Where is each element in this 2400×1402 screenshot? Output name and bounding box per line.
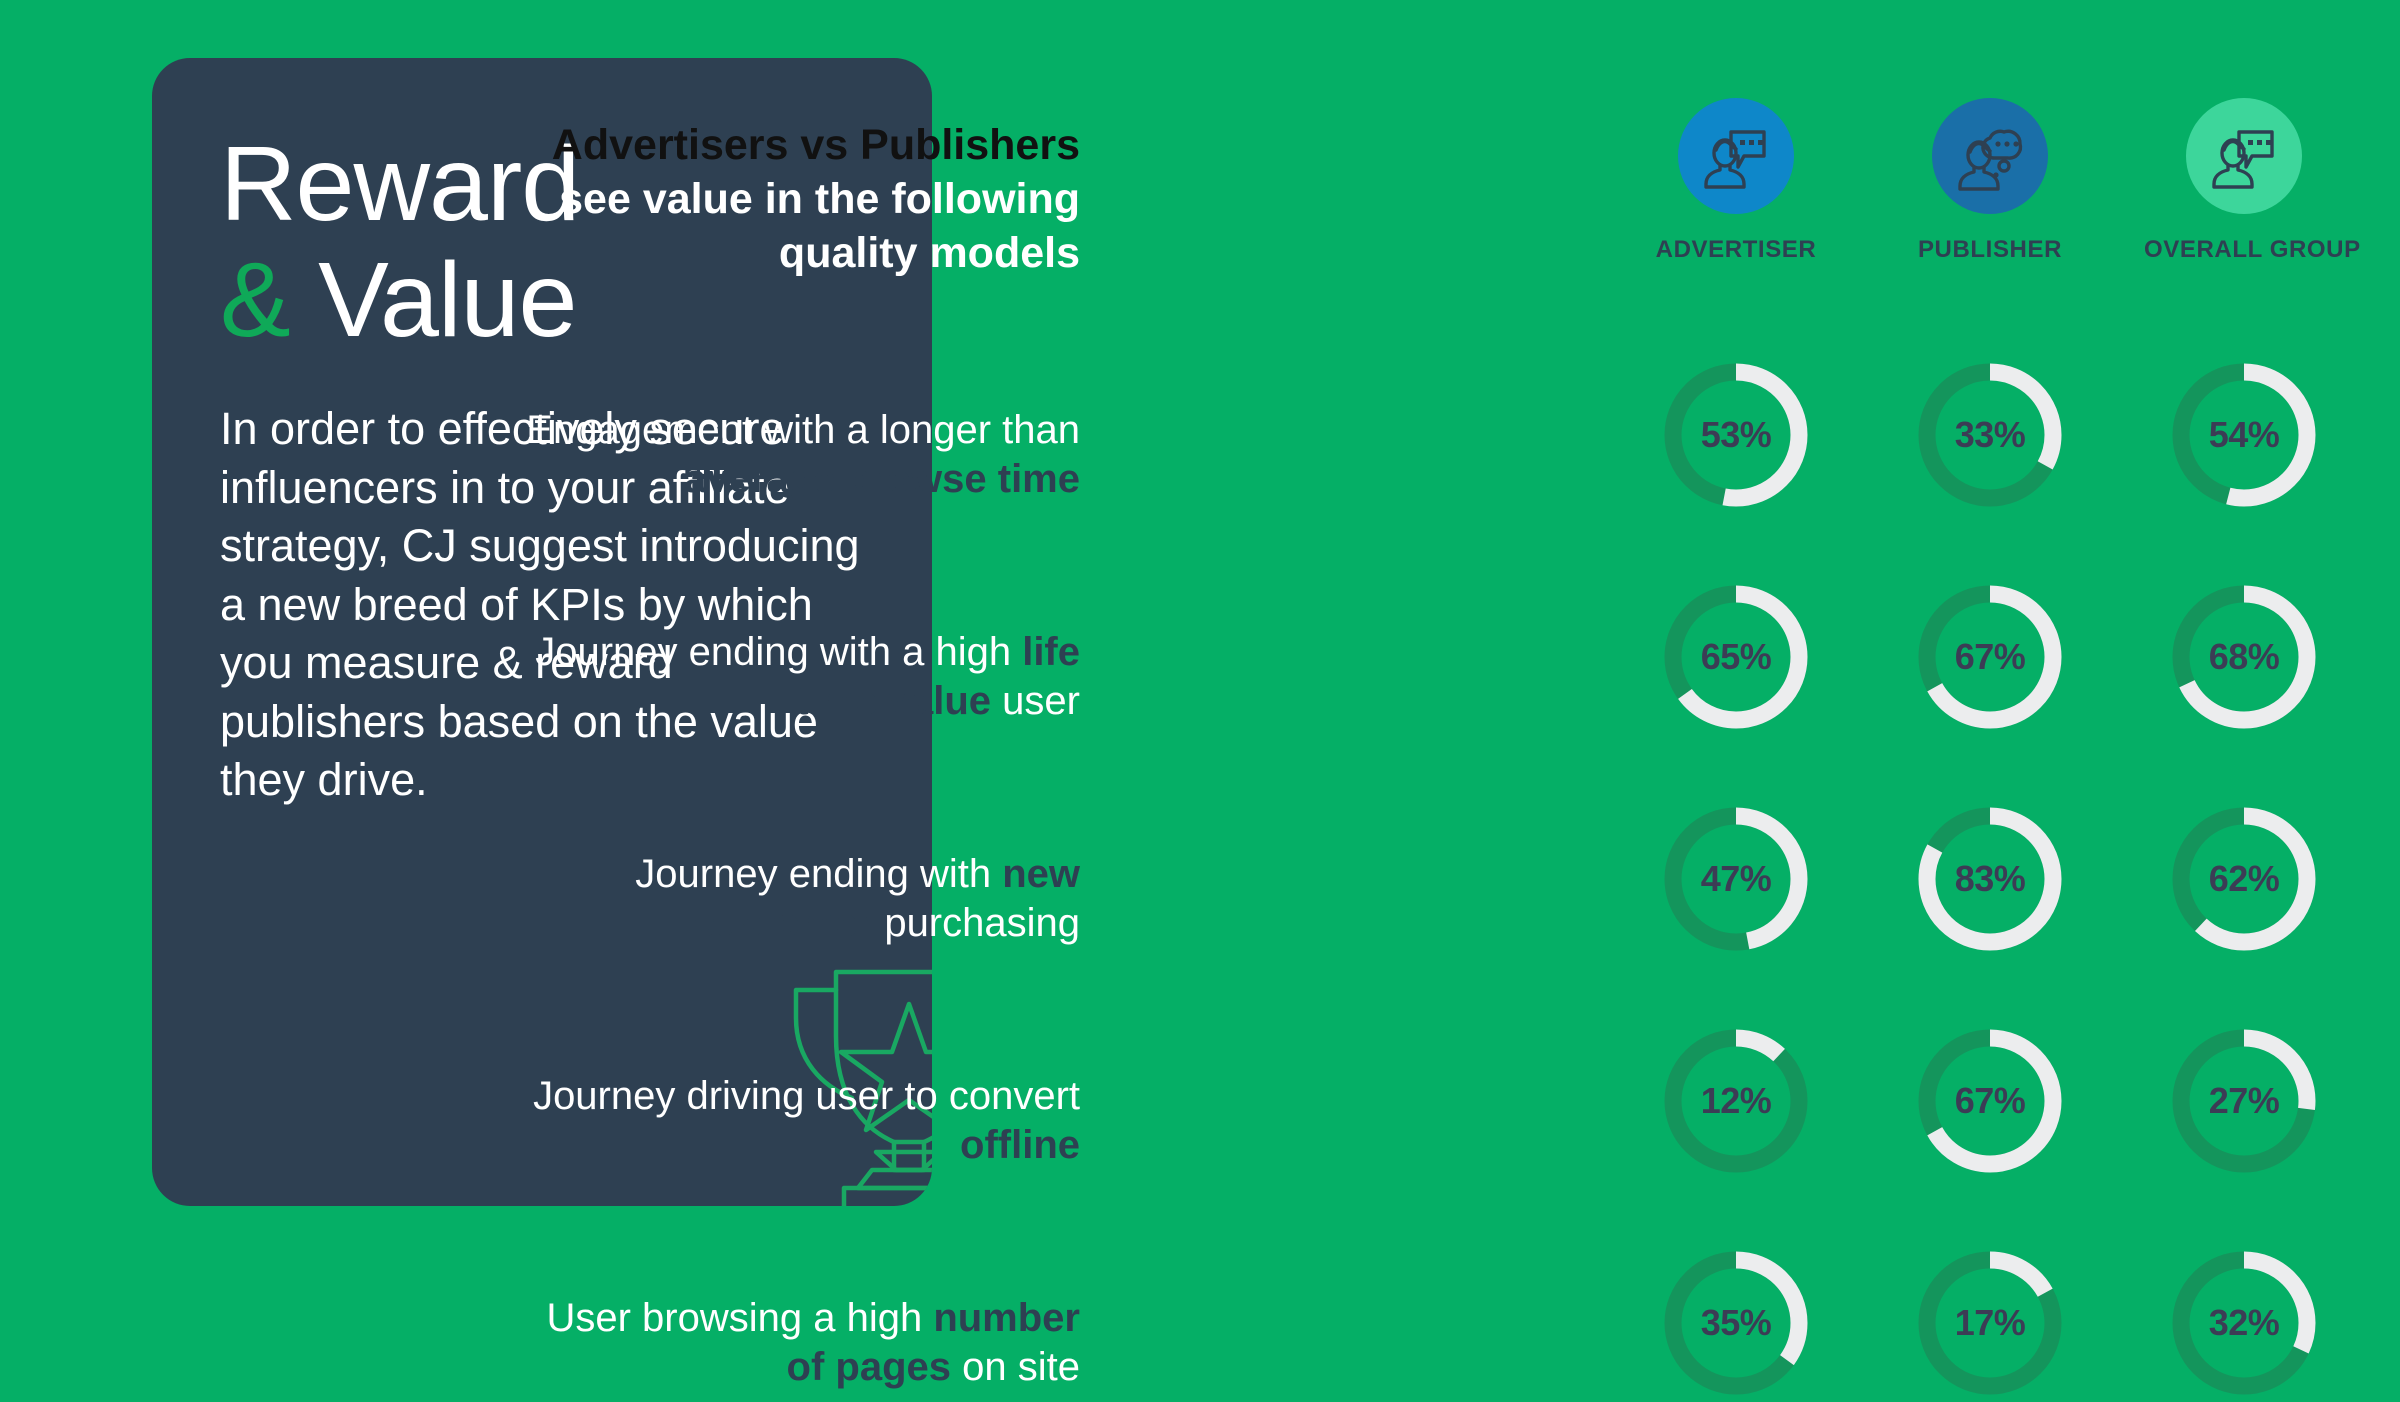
donut-chart: 83% xyxy=(1911,800,2069,958)
person-speech-bubble-icon xyxy=(1700,120,1772,192)
metric-row-label: Journey ending with a high life time val… xyxy=(520,628,1080,726)
donut-value-label: 35% xyxy=(1657,1244,1815,1402)
donut-value-label: 65% xyxy=(1657,578,1815,736)
donut-chart: 32% xyxy=(2165,1244,2323,1402)
label-plain-part: Journey driving user to convert xyxy=(533,1074,1080,1118)
donut-chart: 62% xyxy=(2165,800,2323,958)
donut-chart: 67% xyxy=(1911,1022,2069,1180)
publisher-icon-circle xyxy=(1932,98,2048,214)
donut-chart: 12% xyxy=(1657,1022,1815,1180)
metric-row: Journey ending with a high life time val… xyxy=(960,622,2400,734)
column-label-advertiser: ADVERTISER xyxy=(1636,236,1836,264)
metric-row-label: Engagement with a longer than average br… xyxy=(520,406,1080,504)
label-emphasis-part: average browse time xyxy=(684,457,1080,501)
donut-value-label: 54% xyxy=(2165,356,2323,514)
donut-chart: 33% xyxy=(1911,356,2069,514)
donut-value-label: 32% xyxy=(2165,1244,2323,1402)
donut-value-label: 17% xyxy=(1911,1244,2069,1402)
donut-chart: 27% xyxy=(2165,1022,2323,1180)
donut-cell: 65% xyxy=(1636,578,1836,736)
donut-cell: 62% xyxy=(2144,800,2344,958)
donut-cell: 67% xyxy=(1890,578,2090,736)
metric-row-label: Journey ending with new customer purchas… xyxy=(520,850,1080,948)
donut-cell: 35% xyxy=(1636,1244,1836,1402)
donut-value-label: 12% xyxy=(1657,1022,1815,1180)
label-plain-part-2: purchasing xyxy=(873,901,1080,945)
overall-group-icon-circle xyxy=(2186,98,2302,214)
headline-light-text: see value in the following quality model… xyxy=(559,175,1080,277)
donut-cell: 68% xyxy=(2144,578,2344,736)
donut-cell: 32% xyxy=(2144,1244,2344,1402)
person-thought-cloud-icon xyxy=(1954,120,2026,192)
page-title-word-value: Value xyxy=(318,241,576,359)
donut-value-label: 83% xyxy=(1911,800,2069,958)
column-header-publisher: PUBLISHER xyxy=(1890,98,2090,264)
metric-row: User browsing a high number of pages on … xyxy=(960,1288,2400,1400)
metric-row-label: Journey driving user to convert offline xyxy=(520,1072,1080,1170)
donut-cell: 12% xyxy=(1636,1022,1836,1180)
donut-value-label: 53% xyxy=(1657,356,1815,514)
metric-row: Engagement with a longer than average br… xyxy=(960,400,2400,512)
donut-chart: 65% xyxy=(1657,578,1815,736)
donut-cell: 27% xyxy=(2144,1022,2344,1180)
donut-value-label: 27% xyxy=(2165,1022,2323,1180)
advertiser-icon-circle xyxy=(1678,98,1794,214)
donut-cell: 83% xyxy=(1890,800,2090,958)
label-plain-part-2: on site xyxy=(951,1345,1080,1389)
label-plain-part: Engagement with a longer than xyxy=(526,408,1080,452)
person-speech-bubble-icon xyxy=(2208,120,2280,192)
donut-cell: 67% xyxy=(1890,1022,2090,1180)
donut-chart: 53% xyxy=(1657,356,1815,514)
ampersand: & xyxy=(220,241,290,359)
donut-chart: 35% xyxy=(1657,1244,1815,1402)
donut-value-label: 67% xyxy=(1911,578,2069,736)
metric-row: Journey ending with new customer purchas… xyxy=(960,844,2400,956)
label-plain-part: Journey ending with xyxy=(635,852,1002,896)
donut-chart: 67% xyxy=(1911,578,2069,736)
label-plain-part: User browsing a high xyxy=(546,1296,933,1340)
quality-models-panel: Advertisers vs Publishers see value in t… xyxy=(960,0,2400,1270)
donut-value-label: 33% xyxy=(1911,356,2069,514)
headline-dark-text: Advertisers vs Publishers xyxy=(552,121,1080,169)
donut-cell: 54% xyxy=(2144,356,2344,514)
label-plain-part-2: user xyxy=(991,679,1080,723)
donut-value-label: 68% xyxy=(2165,578,2323,736)
donut-value-label: 67% xyxy=(1911,1022,2069,1180)
donut-cell: 17% xyxy=(1890,1244,2090,1402)
column-header-advertiser: ADVERTISER xyxy=(1636,98,1836,264)
column-header-overall-group: OVERALL GROUP xyxy=(2144,98,2344,264)
column-label-publisher: PUBLISHER xyxy=(1890,236,2090,264)
donut-cell: 47% xyxy=(1636,800,1836,958)
donut-value-label: 62% xyxy=(2165,800,2323,958)
donut-cell: 33% xyxy=(1890,356,2090,514)
donut-chart: 47% xyxy=(1657,800,1815,958)
metric-row: Journey driving user to convert offline1… xyxy=(960,1066,2400,1178)
donut-chart: 54% xyxy=(2165,356,2323,514)
donut-chart: 17% xyxy=(1911,1244,2069,1402)
donut-cell: 53% xyxy=(1636,356,1836,514)
donut-chart: 68% xyxy=(2165,578,2323,736)
donut-value-label: 47% xyxy=(1657,800,1815,958)
label-plain-part: Journey ending with a high xyxy=(535,630,1022,674)
column-label-overall-group: OVERALL GROUP xyxy=(2144,236,2344,264)
panel-headline: Advertisers vs Publishers see value in t… xyxy=(540,118,1080,281)
metric-row-label: User browsing a high number of pages on … xyxy=(520,1294,1080,1392)
label-emphasis-part: offline xyxy=(960,1123,1080,1167)
